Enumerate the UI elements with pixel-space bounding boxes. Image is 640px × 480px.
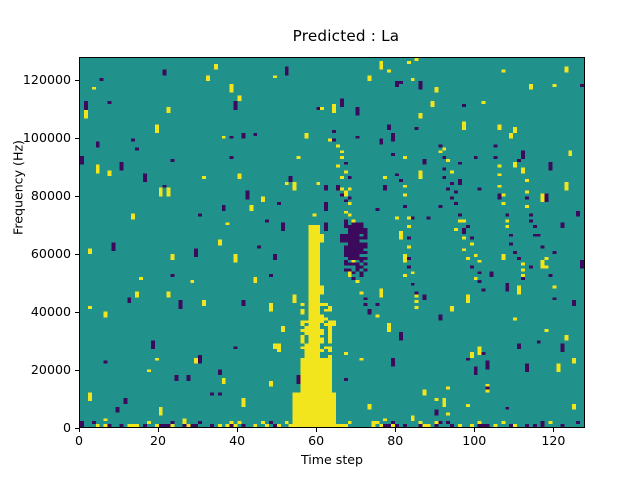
heatmap-axes [79, 57, 585, 428]
y-tick-20000 [75, 370, 79, 371]
x-tick-60 [316, 428, 317, 432]
heatmap-image [80, 58, 584, 427]
x-tick-40 [237, 428, 238, 432]
y-tick-60000 [75, 254, 79, 255]
y-tick-0 [75, 428, 79, 429]
y-tick-120000 [75, 80, 79, 81]
x-tick-120 [553, 428, 554, 432]
chart-title-text: Predicted : La [293, 27, 400, 45]
x-tick-label-40: 40 [207, 433, 267, 448]
x-tick-label-80: 80 [365, 433, 425, 448]
y-tick-80000 [75, 196, 79, 197]
x-tick-label-100: 100 [444, 433, 504, 448]
x-tick-label-120: 120 [523, 433, 583, 448]
y-tick-40000 [75, 312, 79, 313]
x-tick-label-0: 0 [49, 433, 109, 448]
y-tick-label-20000: 20000 [1, 362, 71, 377]
x-tick-80 [395, 428, 396, 432]
x-axis-label: Time step [79, 452, 585, 467]
x-tick-label-60: 60 [286, 433, 346, 448]
matplotlib-figure: Predicted : La 0204060801001200200004000… [0, 0, 640, 480]
chart-title: Predicted : La [0, 27, 640, 45]
y-axis-label: Frequency (Hz) [11, 88, 26, 288]
x-tick-100 [474, 428, 475, 432]
x-tick-label-20: 20 [128, 433, 188, 448]
y-tick-label-0: 0 [1, 420, 71, 435]
y-tick-label-40000: 40000 [1, 304, 71, 319]
y-tick-100000 [75, 138, 79, 139]
y-tick-label-120000: 120000 [1, 72, 71, 87]
x-tick-20 [158, 428, 159, 432]
